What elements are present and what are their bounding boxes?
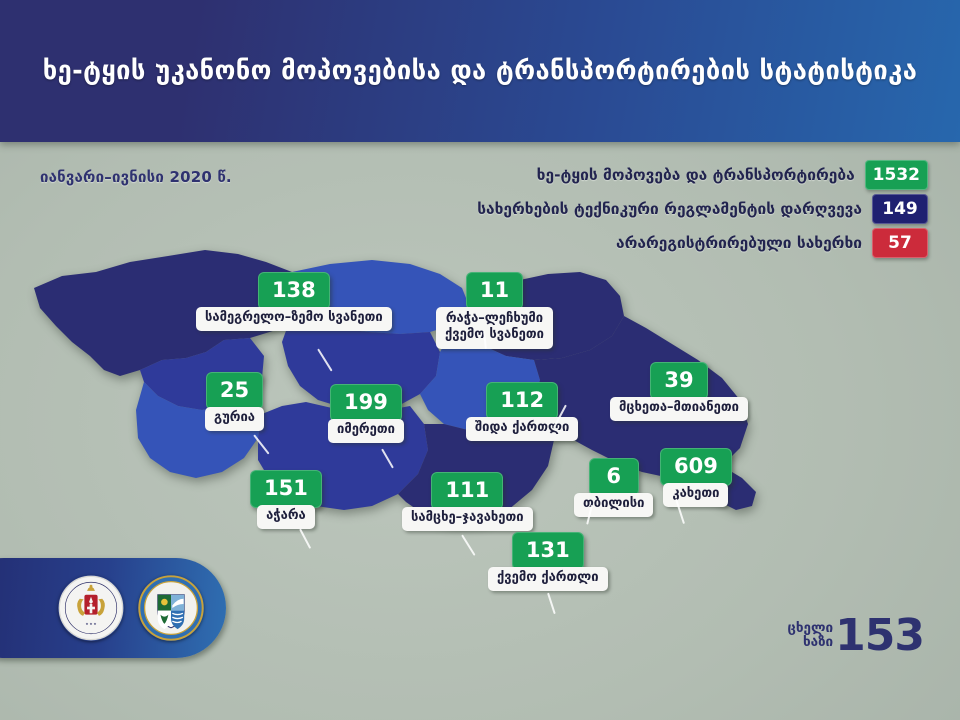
marker-label: სამეგრელო–ზემო სვანეთი bbox=[196, 307, 392, 331]
legend-value-badge: 1532 bbox=[865, 160, 928, 190]
marker-label: აჭარა bbox=[257, 505, 315, 529]
marker-label-line1: რაჭა–ლეჩხუმი bbox=[446, 311, 543, 326]
logo-bar: ★ ★ ★ bbox=[0, 558, 226, 658]
hotline-number: 153 bbox=[835, 616, 924, 656]
marker-samtskhe[interactable]: 111 სამცხე–ჯავახეთი bbox=[402, 472, 533, 531]
marker-label: ქვემო ქართლი bbox=[488, 567, 608, 591]
legend-row: ხე-ტყის მოპოვება და ტრანსპორტირება 1532 bbox=[308, 160, 928, 190]
hotline-label: ცხელი ხაზი bbox=[787, 622, 833, 650]
svg-text:★ ★ ★: ★ ★ ★ bbox=[86, 622, 97, 626]
marker-kvemo-kartli[interactable]: 131 ქვემო ქართლი bbox=[488, 532, 608, 591]
marker-value: 138 bbox=[258, 272, 330, 310]
hotline-word-2: ხაზი bbox=[787, 636, 833, 650]
legend-value-badge: 149 bbox=[872, 194, 928, 224]
marker-tbilisi[interactable]: 6 თბილისი bbox=[574, 458, 653, 517]
marker-label: სამცხე–ჯავახეთი bbox=[402, 507, 533, 531]
legend-value-badge: 57 bbox=[872, 228, 928, 258]
marker-value: 131 bbox=[512, 532, 584, 570]
marker-value: 11 bbox=[466, 272, 523, 310]
marker-guria[interactable]: 25 გურია bbox=[205, 372, 264, 431]
marker-value: 609 bbox=[660, 448, 732, 486]
marker-mtskheta[interactable]: 39 მცხეთა–მთიანეთი bbox=[610, 362, 748, 421]
marker-label: იმერეთი bbox=[328, 419, 404, 443]
marker-adjara[interactable]: 151 აჭარა bbox=[250, 470, 322, 529]
marker-samegrelo[interactable]: 138 სამეგრელო–ზემო სვანეთი bbox=[196, 272, 392, 331]
marker-kakheti[interactable]: 609 კახეთი bbox=[660, 448, 732, 507]
georgia-coat-of-arms-emblem: ★ ★ ★ bbox=[58, 575, 124, 641]
marker-label: თბილისი bbox=[574, 493, 653, 517]
marker-imereti[interactable]: 199 იმერეთი bbox=[328, 384, 404, 443]
marker-value: 6 bbox=[589, 458, 639, 496]
page-title: ხე-ტყის უკანონო მოპოვებისა და ტრანსპორტი… bbox=[43, 56, 918, 86]
date-range-label: იანვარი–ივნისი 2020 წ. bbox=[40, 168, 232, 186]
marker-label: შიდა ქართლი bbox=[466, 417, 578, 441]
department-shield-emblem bbox=[138, 575, 204, 641]
marker-value: 25 bbox=[206, 372, 263, 410]
marker-label: კახეთი bbox=[663, 483, 728, 507]
hotline: ცხელი ხაზი 153 bbox=[787, 616, 924, 656]
header-banner: ხე-ტყის უკანონო მოპოვებისა და ტრანსპორტი… bbox=[0, 0, 960, 142]
marker-label: რაჭა–ლეჩხუმი ქვემო სვანეთი bbox=[436, 307, 553, 349]
marker-value: 39 bbox=[650, 362, 707, 400]
marker-value: 112 bbox=[486, 382, 558, 420]
marker-value: 151 bbox=[250, 470, 322, 508]
marker-label-line2: ქვემო სვანეთი bbox=[445, 327, 544, 342]
infographic-canvas: ხე-ტყის უკანონო მოპოვებისა და ტრანსპორტი… bbox=[0, 0, 960, 720]
marker-racha[interactable]: 11 რაჭა–ლეჩხუმი ქვემო სვანეთი bbox=[436, 272, 553, 349]
marker-label: გურია bbox=[205, 407, 264, 431]
marker-value: 199 bbox=[330, 384, 402, 422]
marker-value: 111 bbox=[431, 472, 503, 510]
marker-label: მცხეთა–მთიანეთი bbox=[610, 397, 748, 421]
legend-label: ხე-ტყის მოპოვება და ტრანსპორტირება bbox=[537, 166, 855, 184]
